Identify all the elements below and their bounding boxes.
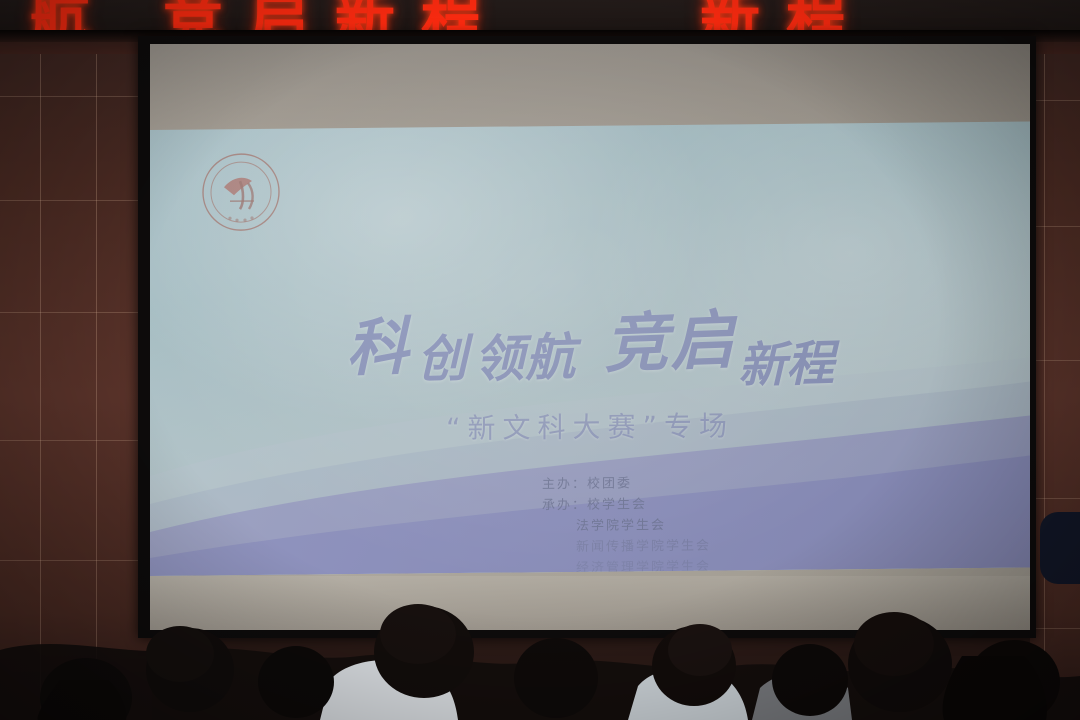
credit-line-coorg-3: 经济管理学院学生会 [542, 557, 711, 576]
wall-speaker [1040, 512, 1080, 584]
credit-line-coorg-2: 新闻传播学院学生会 [542, 536, 711, 559]
headline-word-5: 新程 [737, 324, 834, 397]
presentation-slide: 科创领航竞启新程 “新文科大赛”专场 主办：校团委 承办：校学生会 法学院学生会… [150, 122, 1030, 576]
led-banner: 航 竞启新程 新程 [0, 0, 1080, 30]
screen-top-border [150, 44, 1030, 130]
headline-char-2: 创 [416, 319, 468, 392]
screen-bottom-border [150, 576, 1030, 630]
wall-panel-left [0, 0, 152, 720]
led-banner-text-left: 航 竞启新程 [30, 0, 507, 30]
headline-word-4: 竞启 [602, 289, 736, 386]
headline-word-3: 领航 [473, 317, 576, 392]
led-banner-text-right: 新程 [700, 0, 872, 30]
projection-screen-surface: 科创领航竞启新程 “新文科大赛”专场 主办：校团委 承办：校学生会 法学院学生会… [150, 44, 1030, 630]
wall-panel-right [1030, 0, 1080, 720]
headline-char-1: 科 [345, 296, 411, 388]
slide-credits: 主办：校团委 承办：校学生会 法学院学生会 新闻传播学院学生会 经济管理学院学生… [542, 473, 711, 576]
slide-headline: 科创领航竞启新程 [150, 290, 1030, 390]
credit-line-organizer: 承办：校学生会 [542, 494, 711, 517]
credit-line-coorg-1: 法学院学生会 [542, 515, 711, 538]
slide-subtitle: “新文科大赛”专场 [150, 402, 1030, 450]
auditorium-photo: 航 竞启新程 新程 [0, 0, 1080, 720]
university-emblem-icon [200, 151, 282, 234]
credit-line-host: 主办：校团委 [542, 473, 711, 496]
